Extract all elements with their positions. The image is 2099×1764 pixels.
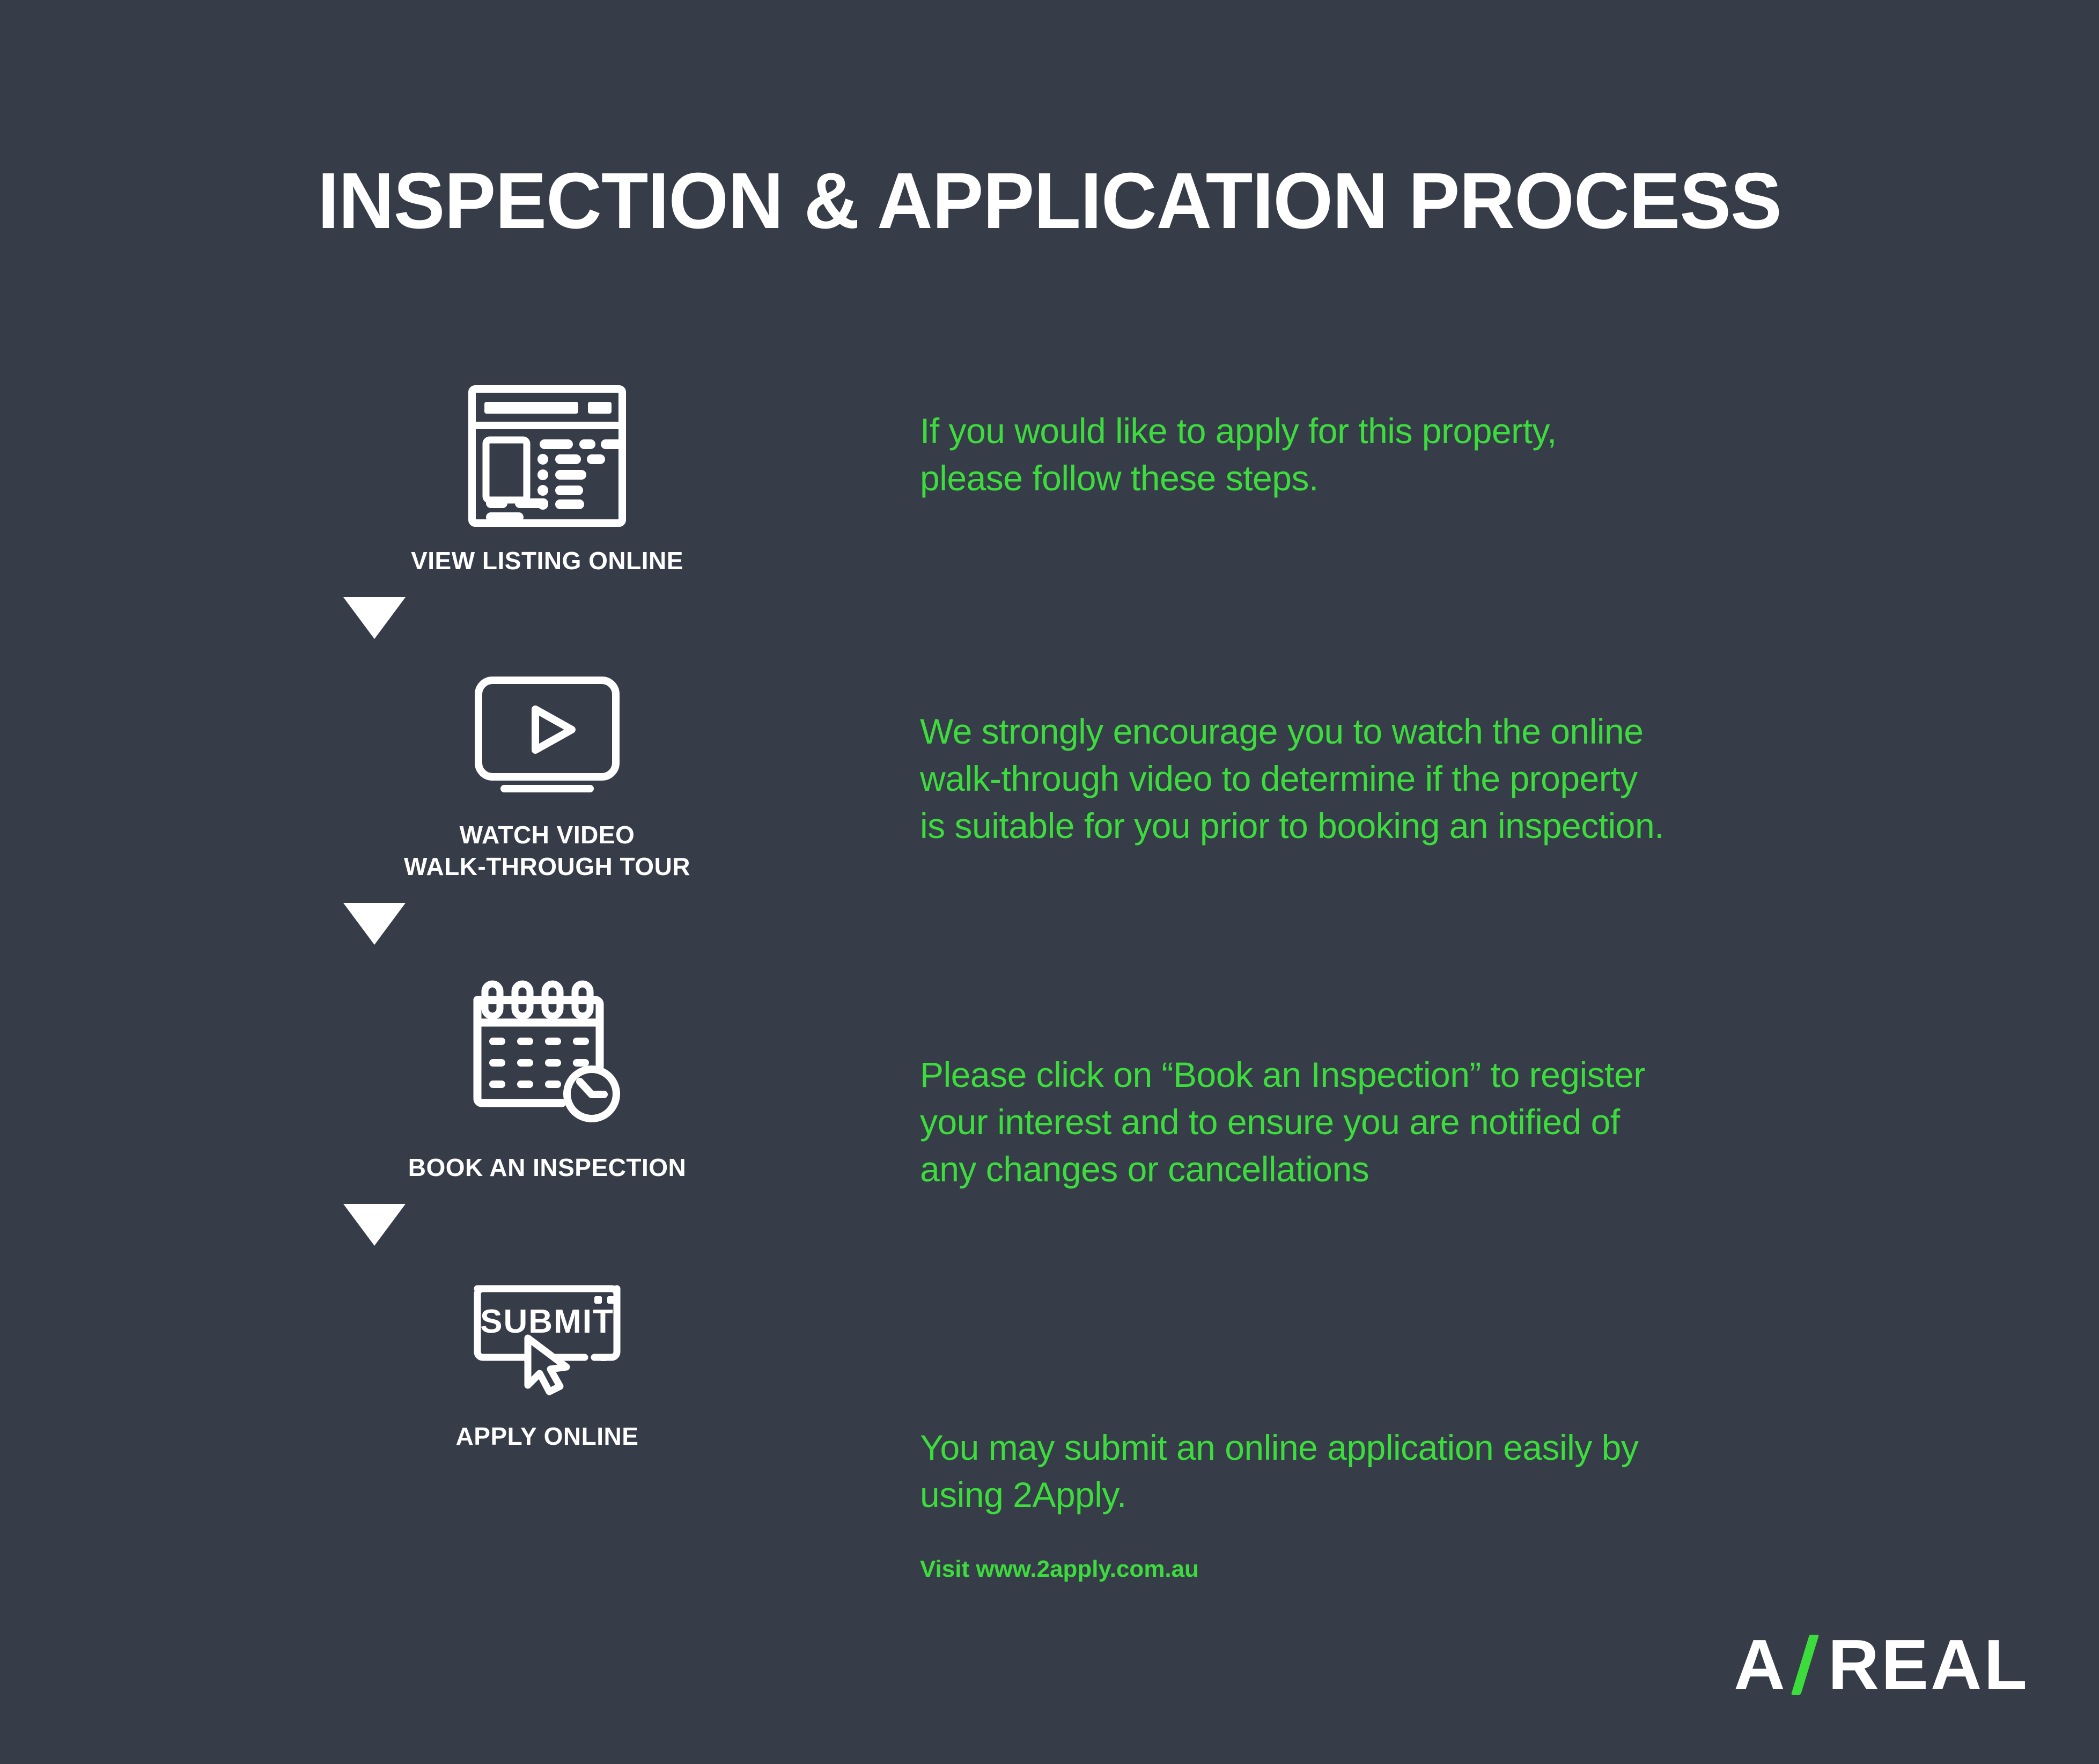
video-play-monitor-icon: [445, 655, 649, 816]
browser-listing-icon: [445, 370, 649, 542]
page-title: INSPECTION & APPLICATION PROCESS: [32, 156, 2068, 247]
brand-logo[interactable]: A REAL: [1734, 1633, 2029, 1697]
arrow-down-icon: [343, 597, 406, 639]
step-watch-video[interactable]: WATCH VIDEO WALK-THROUGH TOUR: [343, 655, 751, 883]
arrow-down-icon: [343, 903, 406, 945]
step-label-view-listing: VIEW LISTING ONLINE: [411, 545, 683, 577]
step-label-book-inspection: BOOK AN INSPECTION: [408, 1152, 686, 1184]
step-apply-online[interactable]: SUBMIT APPLY ONLINE: [343, 1262, 751, 1452]
step-book-inspection[interactable]: BOOK AN INSPECTION: [343, 961, 751, 1184]
step-label-apply-online: APPLY ONLINE: [456, 1421, 639, 1452]
step-label-watch-video: WATCH VIDEO WALK-THROUGH TOUR: [404, 819, 690, 883]
submit-button-cursor-icon: SUBMIT: [445, 1262, 649, 1417]
calendar-clock-icon: [445, 961, 649, 1149]
arrow-down-icon: [343, 1204, 406, 1246]
note-intro: If you would like to apply for this prop…: [920, 408, 1557, 502]
note-apply: You may submit an online application eas…: [920, 1424, 1638, 1519]
svg-text:SUBMIT: SUBMIT: [480, 1303, 614, 1340]
note-book: Please click on “Book an Inspection” to …: [920, 1052, 1645, 1193]
green-slash-icon: [1791, 1635, 1819, 1695]
logo-letter-a: A: [1734, 1629, 1785, 1700]
step-view-listing[interactable]: VIEW LISTING ONLINE: [343, 370, 751, 577]
visit-url-line[interactable]: Visit www.2apply.com.au: [920, 1556, 1199, 1583]
note-video: We strongly encourage you to watch the o…: [920, 708, 1664, 849]
process-step-list: VIEW LISTING ONLINE WATCH VIDEO WALK-THR…: [343, 370, 751, 1452]
logo-word-real: REAL: [1828, 1629, 2029, 1700]
poster-canvas: INSPECTION & APPLICATION PROCESS: [0, 0, 2099, 1764]
